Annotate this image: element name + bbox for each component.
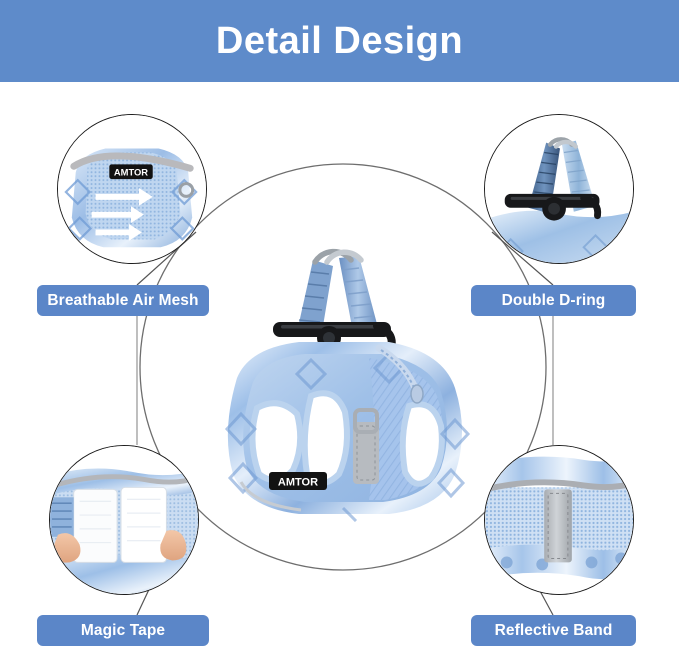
brand-tag-label: AMTOR <box>278 477 318 489</box>
header-banner: Detail Design <box>0 0 679 82</box>
callout-label-text: Double D-ring <box>502 292 606 310</box>
callout-label-double-d-ring[interactable]: Double D-ring <box>471 285 636 316</box>
buckle-knob-inner <box>548 203 560 215</box>
product-image-harness: AMTOR <box>193 182 493 522</box>
callout-label-reflective-band[interactable]: Reflective Band <box>471 615 636 646</box>
brand-tag-label: AMTOR <box>114 168 148 178</box>
callout-label-text: Breathable Air Mesh <box>47 292 198 310</box>
callout-label-text: Reflective Band <box>495 622 613 640</box>
detail-design-stage: AMTOR <box>0 82 679 655</box>
callout-photo-breathable-air-mesh[interactable]: AMTOR <box>57 114 207 264</box>
callout-label-text: Magic Tape <box>81 622 165 640</box>
callout-photo-reflective-band[interactable] <box>484 445 634 595</box>
velcro-flap-right <box>121 487 166 562</box>
callout-label-breathable-air-mesh[interactable]: Breathable Air Mesh <box>37 285 209 316</box>
zipper-pull <box>411 385 423 403</box>
callout-photo-double-d-ring[interactable] <box>484 114 634 264</box>
page-title: Detail Design <box>216 22 463 60</box>
callout-photo-magic-tape[interactable] <box>49 445 199 595</box>
callout-label-magic-tape[interactable]: Magic Tape <box>37 615 209 646</box>
